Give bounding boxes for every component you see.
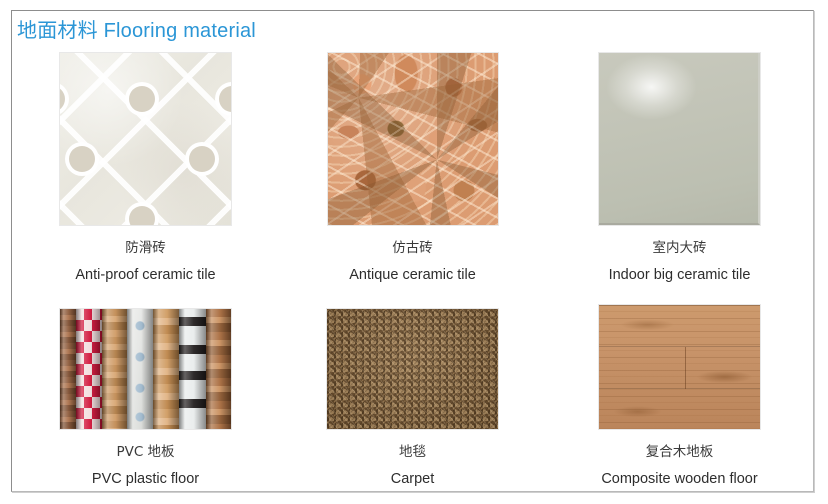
- pvc-roll: [153, 309, 179, 429]
- thumbnail-frame: [599, 304, 760, 429]
- indoor-big-ceramic-tile-swatch: [599, 53, 760, 225]
- pvc-roll: [127, 309, 153, 429]
- anti-proof-ceramic-tile-swatch: [60, 53, 231, 225]
- material-card-composite-wooden-floor[interactable]: 复合木地板 Composite wooden floor: [546, 304, 813, 489]
- pvc-roll: [206, 309, 231, 429]
- material-name-en: PVC plastic floor: [92, 470, 199, 489]
- material-card-pvc-plastic-floor[interactable]: PVC 地板 PVC plastic floor: [12, 304, 279, 489]
- material-card-antique-ceramic-tile[interactable]: 仿古砖 Antique ceramic tile: [279, 49, 546, 285]
- material-name-en: Anti-proof ceramic tile: [75, 266, 215, 285]
- pvc-roll: [60, 309, 76, 429]
- flooring-material-board: 地面材料 Flooring material 防滑砖: [0, 0, 828, 504]
- antique-ceramic-tile-swatch: [328, 53, 498, 225]
- material-name-cn: 室内大砖: [653, 239, 707, 257]
- material-name-en: Composite wooden floor: [601, 470, 757, 489]
- page-title-cn: 地面材料: [17, 18, 98, 42]
- material-card-carpet[interactable]: 地毯 Carpet: [279, 304, 546, 489]
- page-title: 地面材料 Flooring material: [17, 17, 256, 44]
- content-panel: 地面材料 Flooring material 防滑砖: [11, 10, 814, 492]
- material-name-en: Indoor big ceramic tile: [609, 266, 751, 285]
- material-card-anti-proof-ceramic-tile[interactable]: 防滑砖 Anti-proof ceramic tile: [12, 49, 279, 285]
- thumbnail-frame: [327, 304, 498, 429]
- material-grid: 防滑砖 Anti-proof ceramic tile 仿古砖 Antique …: [12, 49, 813, 489]
- pvc-roll: [76, 309, 102, 429]
- pvc-roll: [102, 309, 127, 429]
- material-name-cn: 防滑砖: [125, 239, 166, 257]
- thumbnail-frame: [328, 49, 498, 225]
- pvc-roll: [179, 309, 206, 429]
- plank-seam: [685, 347, 686, 389]
- material-name-en: Carpet: [391, 470, 435, 489]
- composite-wooden-floor-swatch: [599, 305, 760, 429]
- carpet-nap-overlay: [327, 309, 498, 429]
- pvc-plastic-floor-swatch: [60, 309, 231, 429]
- carpet-swatch: [327, 309, 498, 429]
- thumbnail-frame: [60, 304, 231, 429]
- thumbnail-frame: [599, 49, 760, 225]
- material-name-cn: 仿古砖: [392, 239, 433, 257]
- material-name-cn: 地毯: [399, 443, 426, 461]
- thumbnail-frame: [60, 49, 231, 225]
- material-name-en: Antique ceramic tile: [349, 266, 476, 285]
- lattice-node-icon: [189, 146, 215, 172]
- lattice-pattern-overlay: [60, 53, 231, 225]
- material-name-cn: 复合木地板: [646, 443, 714, 461]
- lattice-node-icon: [129, 86, 155, 112]
- lattice-node-icon: [69, 146, 95, 172]
- pebble-texture-overlay: [328, 53, 498, 225]
- page-title-en: Flooring material: [104, 20, 256, 42]
- lattice-node-icon: [129, 206, 155, 225]
- material-card-indoor-big-ceramic-tile[interactable]: 室内大砖 Indoor big ceramic tile: [546, 49, 813, 285]
- material-name-cn: PVC 地板: [116, 443, 174, 461]
